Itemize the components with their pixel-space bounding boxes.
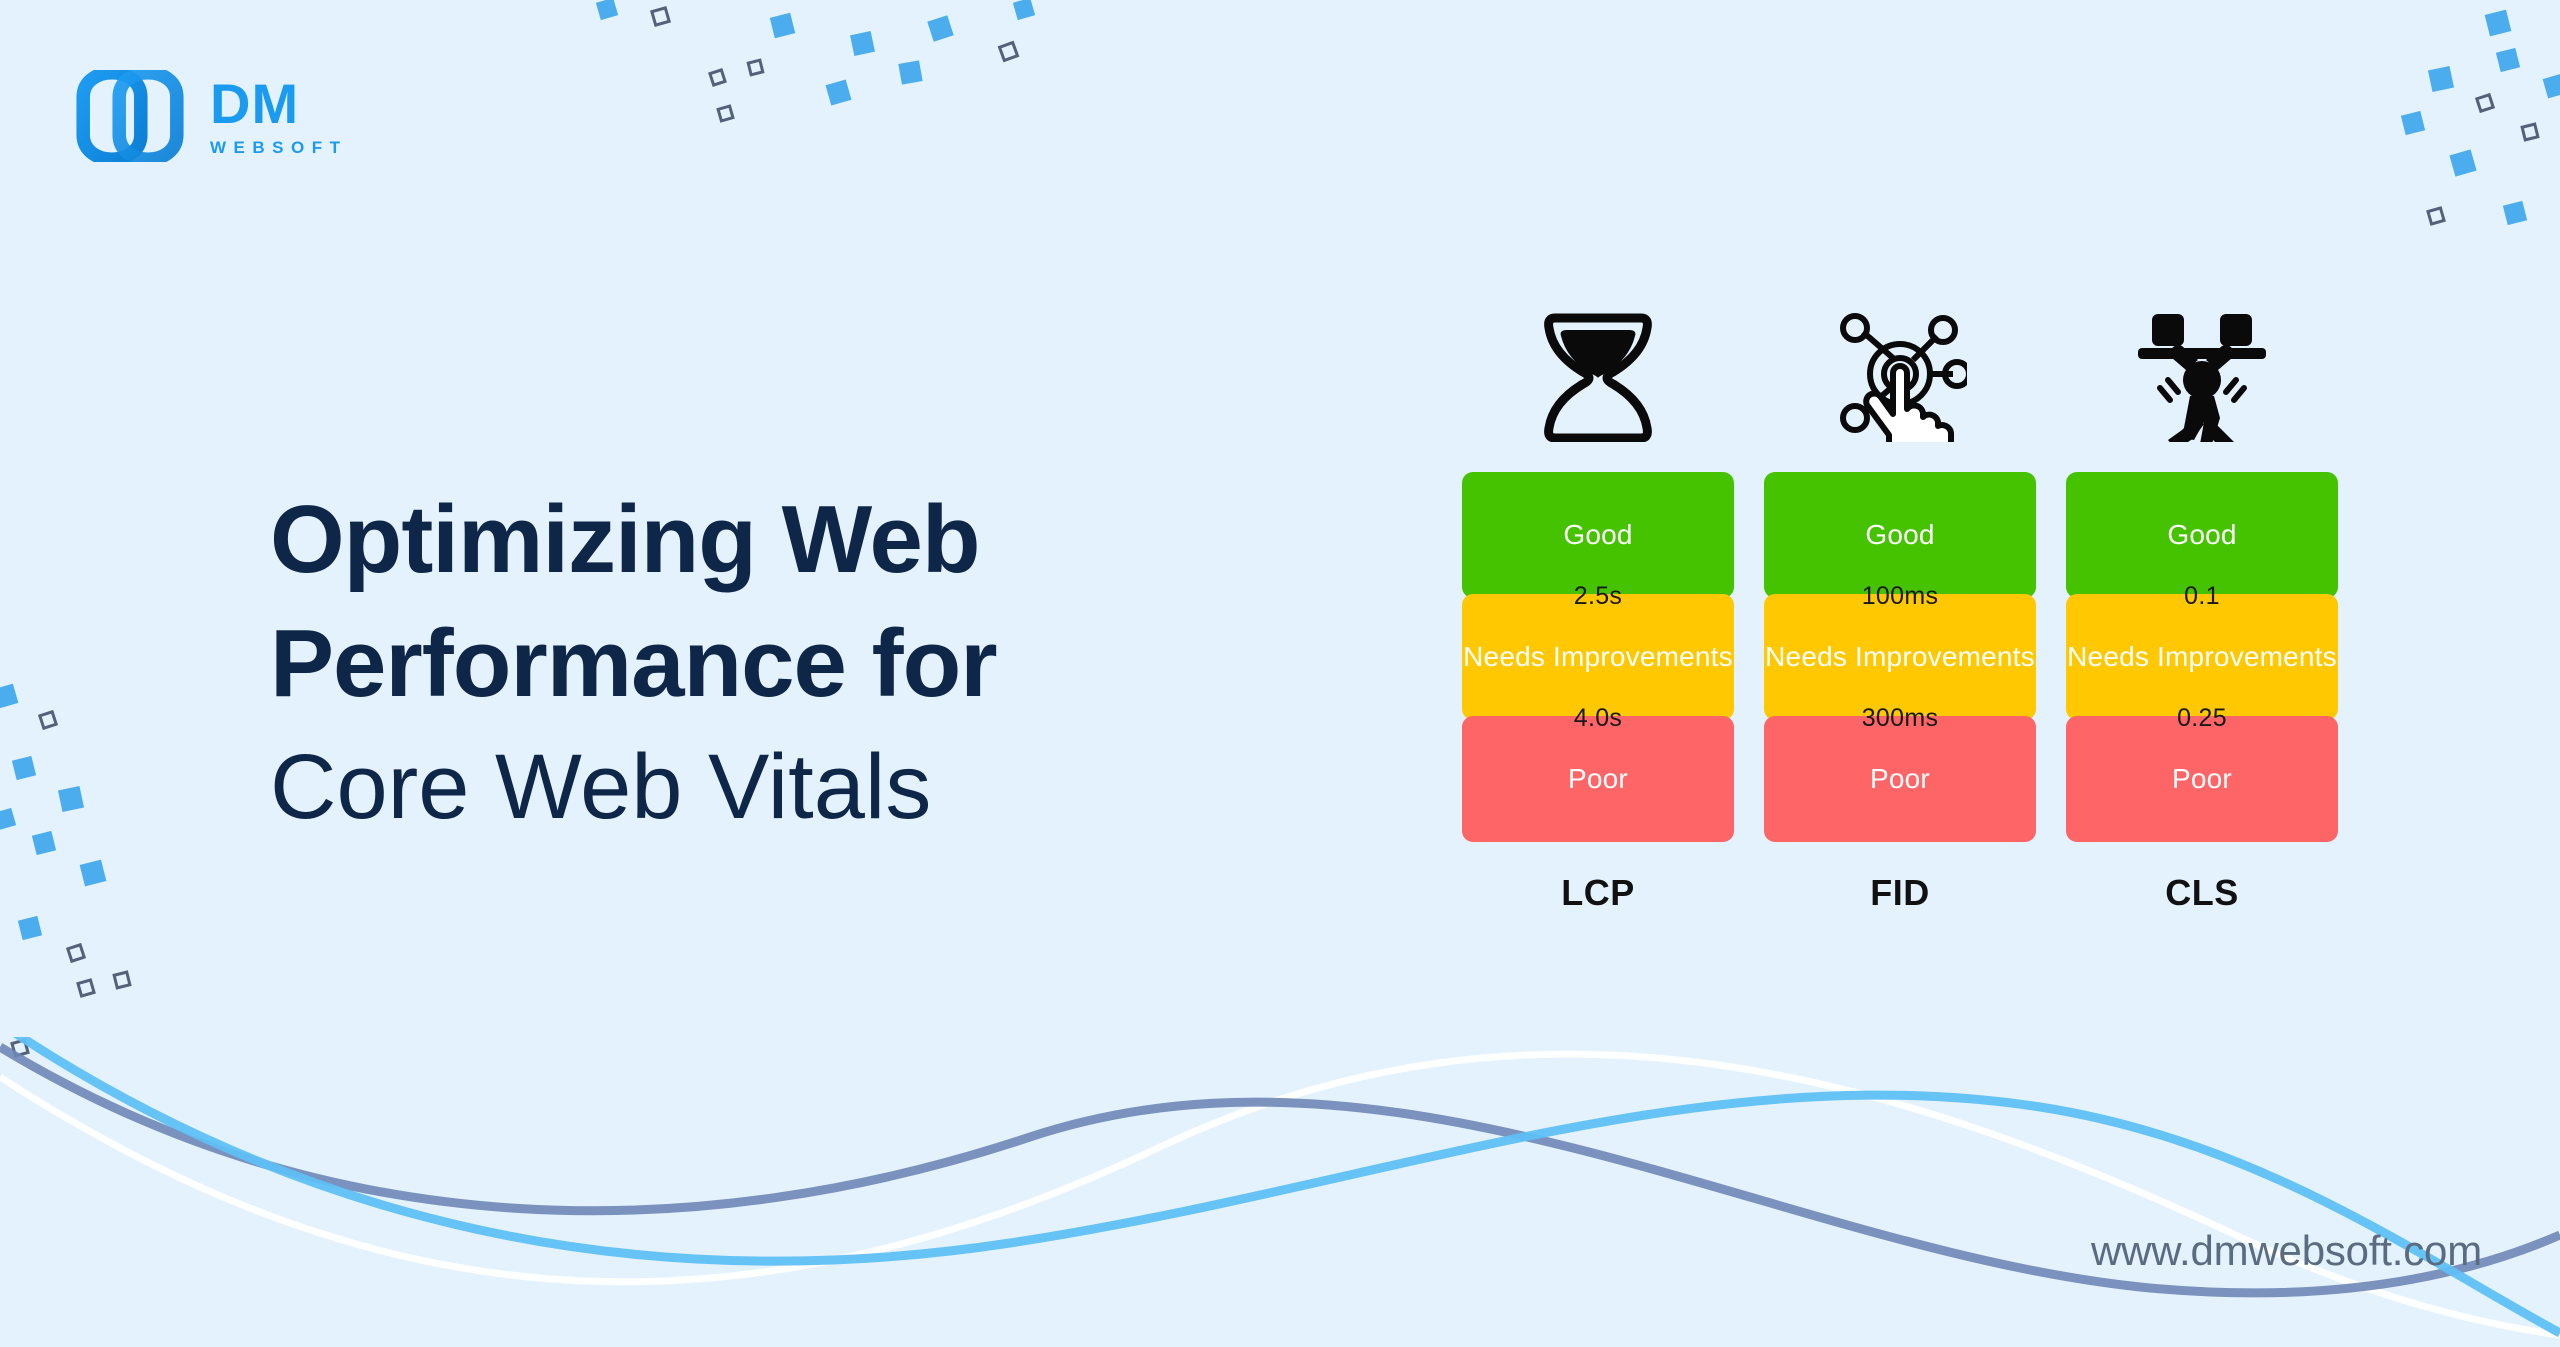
deco-square xyxy=(716,104,735,123)
deco-square xyxy=(80,860,107,887)
brand-logo[interactable]: DM WEBSOFT xyxy=(76,70,348,162)
metric-label-fid: FID xyxy=(1870,872,1930,914)
deco-square xyxy=(76,978,96,998)
bar-poor: Poor xyxy=(1764,716,2036,842)
site-url[interactable]: www.dmwebsoft.com xyxy=(2091,1227,2482,1275)
bar-good: Good xyxy=(1462,472,1734,598)
deco-square xyxy=(1013,0,1035,20)
deco-square xyxy=(650,6,671,27)
deco-square xyxy=(2496,48,2520,72)
core-web-vitals-table: Good Needs Improvements Poor 2.5s 4.0s L… xyxy=(1462,300,2338,914)
bar-good: Good xyxy=(2066,472,2338,598)
deco-square xyxy=(38,710,58,730)
hourglass-icon xyxy=(1537,300,1659,450)
logo-tagline: WEBSOFT xyxy=(210,139,348,156)
deco-square xyxy=(2401,111,2425,135)
deco-square xyxy=(2475,93,2495,113)
deco-square xyxy=(2520,122,2539,141)
deco-square xyxy=(708,68,727,87)
deco-square xyxy=(32,831,56,855)
deco-square xyxy=(2543,74,2560,99)
deco-square xyxy=(0,808,16,830)
deco-square xyxy=(18,916,42,940)
headline-line-1: Optimizing Web xyxy=(270,478,1370,602)
deco-square xyxy=(2503,201,2527,225)
deco-square xyxy=(2449,149,2476,176)
threshold-good-lcp: 2.5s xyxy=(1462,582,1734,611)
deco-square xyxy=(998,41,1020,63)
metric-label-cls: CLS xyxy=(2165,872,2239,914)
threshold-needs-lcp: 4.0s xyxy=(1462,704,1734,733)
deco-square xyxy=(927,15,953,41)
metric-column-fid: Good Needs Improvements Poor 100ms 300ms… xyxy=(1764,300,2036,914)
deco-square xyxy=(770,13,795,38)
bar-needs: Needs Improvements xyxy=(1764,594,2036,720)
metric-bars-cls: Good Needs Improvements Poor 0.1 0.25 xyxy=(2066,472,2338,842)
threshold-good-cls: 0.1 xyxy=(2066,582,2338,611)
deco-square xyxy=(2485,10,2512,37)
metric-bars-lcp: Good Needs Improvements Poor 2.5s 4.0s xyxy=(1462,472,1734,842)
deco-square xyxy=(0,684,18,709)
deco-square xyxy=(850,31,875,56)
page-title: Optimizing Web Performance for Core Web … xyxy=(270,478,1370,848)
tap-gesture-icon xyxy=(1833,300,1967,450)
bar-needs: Needs Improvements xyxy=(2066,594,2338,720)
threshold-good-fid: 100ms xyxy=(1764,582,2036,611)
logo-wordmark: DM xyxy=(210,76,348,132)
deco-square xyxy=(66,943,86,963)
threshold-needs-fid: 300ms xyxy=(1764,704,2036,733)
deco-square xyxy=(12,756,36,780)
infographic-canvas: DM WEBSOFT Optimizing Web Performance fo… xyxy=(0,0,2560,1347)
headline-line-3: Core Web Vitals xyxy=(270,726,1370,848)
weightlifter-icon xyxy=(2134,300,2270,450)
metric-bars-fid: Good Needs Improvements Poor 100ms 300ms xyxy=(1764,472,2036,842)
metric-column-lcp: Good Needs Improvements Poor 2.5s 4.0s L… xyxy=(1462,300,1734,914)
bar-needs: Needs Improvements xyxy=(1462,594,1734,720)
decorative-waves xyxy=(0,1037,2560,1347)
bar-poor: Poor xyxy=(2066,716,2338,842)
dm-interlocking-mark-icon xyxy=(76,70,184,162)
headline-line-2: Performance for xyxy=(270,602,1370,726)
deco-square xyxy=(112,970,131,989)
deco-square xyxy=(2426,206,2446,226)
deco-square xyxy=(746,58,764,76)
metric-label-lcp: LCP xyxy=(1561,872,1635,914)
bar-poor: Poor xyxy=(1462,716,1734,842)
deco-square xyxy=(826,80,852,106)
metric-column-cls: Good Needs Improvements Poor 0.1 0.25 CL… xyxy=(2066,300,2338,914)
deco-square xyxy=(58,786,84,812)
deco-square xyxy=(2428,66,2454,92)
deco-square xyxy=(596,0,618,20)
threshold-needs-cls: 0.25 xyxy=(2066,704,2338,733)
deco-square xyxy=(898,60,922,84)
bar-good: Good xyxy=(1764,472,2036,598)
